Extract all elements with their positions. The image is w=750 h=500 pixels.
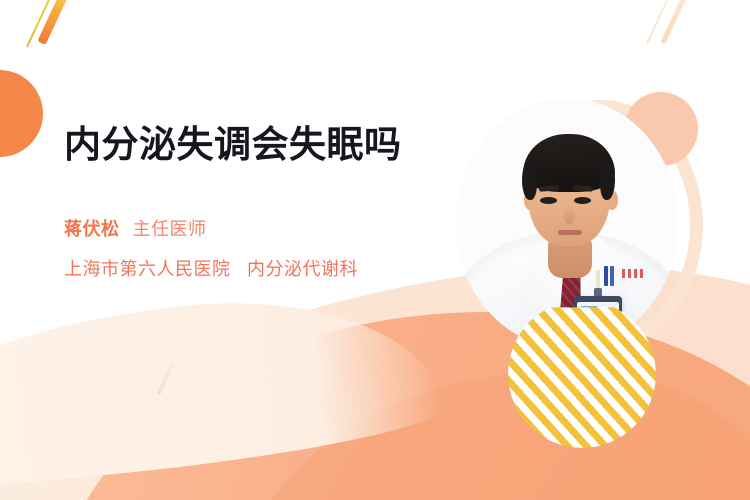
slash-cream-faint-icon: [157, 361, 176, 395]
doctor-title: 主任医师: [133, 215, 207, 241]
doctor-byline: 蒋伏松 主任医师: [64, 215, 434, 241]
video-cover-card: 内分泌失调会失眠吗 蒋伏松 主任医师 上海市第六人民医院 内分泌代谢科: [0, 0, 750, 500]
page-title: 内分泌失调会失眠吗: [64, 124, 434, 167]
pocket-pen-blue-2: [610, 266, 614, 286]
slash-cream-thin-icon: [646, 0, 670, 44]
eye-right: [574, 197, 591, 204]
orange-circle-icon: [0, 70, 43, 157]
pocket-pen-blue: [604, 266, 608, 286]
eye-left: [540, 197, 557, 204]
slash-thick-orange-icon: [37, 0, 71, 45]
hair-side-right: [600, 160, 615, 200]
department-name: 内分泌代谢科: [247, 259, 358, 279]
slash-thin-yellow-green-icon: [26, 0, 54, 48]
doctor-affiliation: 上海市第六人民医院 内分泌代谢科: [64, 255, 434, 281]
doctor-name: 蒋伏松: [64, 215, 120, 241]
wave-pale-sliver-shape: [0, 280, 447, 500]
pocket-pen-white: [596, 270, 600, 288]
text-content-group: 内分泌失调会失眠吗 蒋伏松 主任医师 上海市第六人民医院 内分泌代谢科: [64, 124, 434, 281]
hair-side-left: [522, 160, 537, 200]
hospital-name: 上海市第六人民医院: [64, 259, 231, 279]
hospital-logo-mark: [622, 269, 644, 278]
nose: [564, 206, 575, 224]
striped-gold-disc-decoration: [508, 300, 656, 448]
mouth: [558, 230, 582, 235]
slash-cream-thick-icon: [660, 0, 688, 44]
